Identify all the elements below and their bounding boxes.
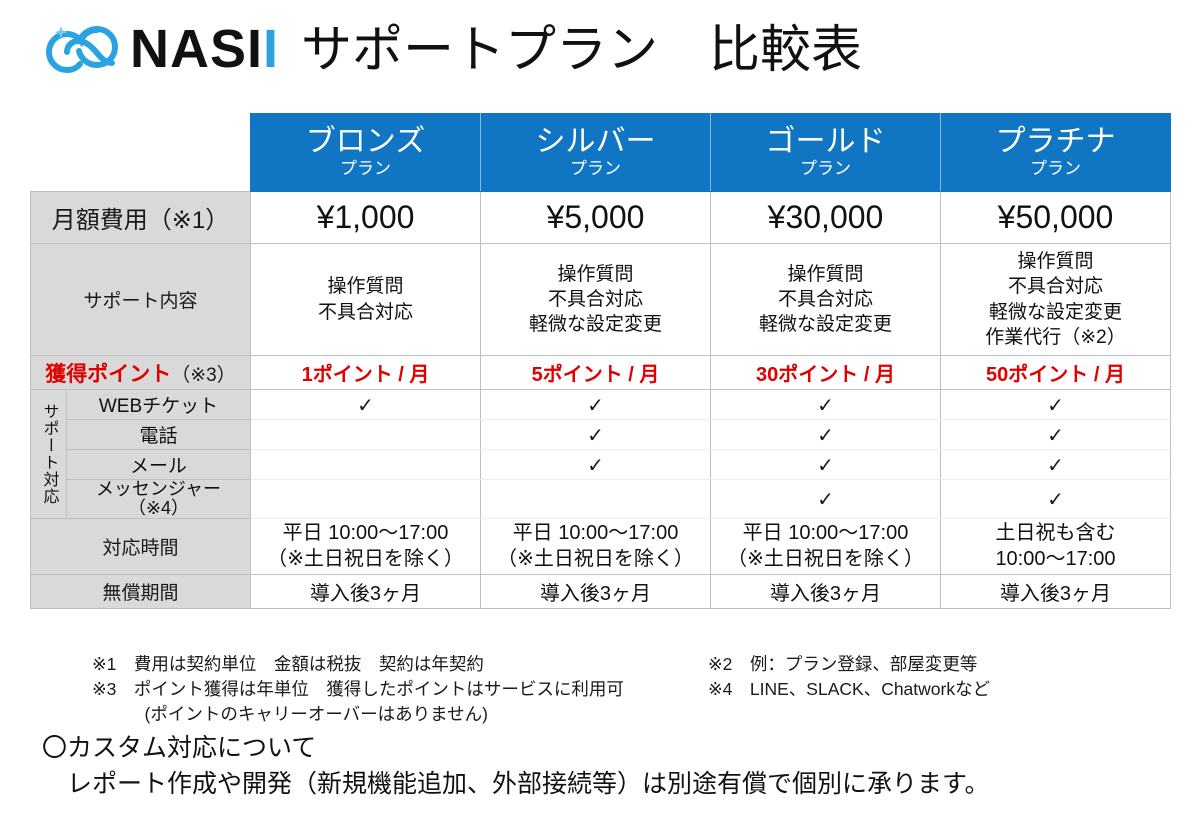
check-phone-bronze xyxy=(251,420,481,450)
support-content-bronze: 操作質問不具合対応 xyxy=(251,244,481,356)
check-mail-platinum: ✓ xyxy=(941,450,1171,480)
plan-name: プラチナ xyxy=(941,126,1170,158)
custom-support-note: 〇カスタム対応について レポート作成や開発（新規機能追加、外部接続等）は別途有償… xyxy=(42,730,990,803)
table-row-monthly-price: 月額費用（※1） ¥1,000 ¥5,000 ¥30,000 ¥50,000 xyxy=(31,192,1171,244)
method-label-mail: メール xyxy=(67,450,251,480)
check-messenger-bronze xyxy=(251,480,481,519)
footnotes-left: ※1 費用は契約単位 金額は税抜 契約は年契約※3 ポイント獲得は年単位 獲得し… xyxy=(92,652,624,727)
method-label-web-ticket: WEBチケット xyxy=(67,390,251,420)
pricing-comparison-page: NASII サポートプラン 比較表 ブロンズ プラン シルバー プラン ゴールド… xyxy=(0,0,1200,831)
plan-header-bronze: ブロンズ プラン xyxy=(251,114,481,192)
price-bronze: ¥1,000 xyxy=(251,192,481,244)
row-label-monthly-price: 月額費用（※1） xyxy=(31,192,251,244)
table-row-free-period: 無償期間 導入後3ヶ月 導入後3ヶ月 導入後3ヶ月 導入後3ヶ月 xyxy=(31,574,1171,608)
header-spacer xyxy=(31,114,251,192)
points-gold: 30ポイント / 月 xyxy=(711,356,941,390)
plan-header-platinum: プラチナ プラン xyxy=(941,114,1171,192)
plan-name: ブロンズ xyxy=(251,126,480,158)
check-web-ticket-silver: ✓ xyxy=(481,390,711,420)
check-mail-silver: ✓ xyxy=(481,450,711,480)
plan-subtitle: プラン xyxy=(711,159,940,179)
points-platinum: 50ポイント / 月 xyxy=(941,356,1171,390)
check-phone-silver: ✓ xyxy=(481,420,711,450)
brand-wordmark-main: NASI xyxy=(130,19,263,79)
free-period-gold: 導入後3ヶ月 xyxy=(711,574,941,608)
table-row-support-content: サポート内容 操作質問不具合対応 操作質問不具合対応軽微な設定変更 操作質問不具… xyxy=(31,244,1171,356)
check-messenger-gold: ✓ xyxy=(711,480,941,519)
page-header: NASII サポートプラン 比較表 xyxy=(40,18,862,80)
table-row-method-mail: メール ✓ ✓ ✓ xyxy=(31,450,1171,480)
table-row-method-messenger: メッセンジャー（※4） ✓ ✓ xyxy=(31,480,1171,519)
points-silver: 5ポイント / 月 xyxy=(481,356,711,390)
page-title: サポートプラン 比較表 xyxy=(301,24,862,75)
row-label-points-note: （※3） xyxy=(171,365,236,386)
hours-bronze: 平日 10:00〜17:00（※土日祝日を除く） xyxy=(251,518,481,574)
plan-name: ゴールド xyxy=(711,126,940,158)
table-row-method-phone: 電話 ✓ ✓ ✓ xyxy=(31,420,1171,450)
check-messenger-platinum: ✓ xyxy=(941,480,1171,519)
plan-comparison-table: ブロンズ プラン シルバー プラン ゴールド プラン プラチナ プラン 月額費用… xyxy=(30,113,1171,609)
check-mail-bronze xyxy=(251,450,481,480)
hours-platinum: 土日祝も含む10:00〜17:00 xyxy=(941,518,1171,574)
plan-subtitle: プラン xyxy=(941,159,1170,179)
plan-header-gold: ゴールド プラン xyxy=(711,114,941,192)
price-platinum: ¥50,000 xyxy=(941,192,1171,244)
price-gold: ¥30,000 xyxy=(711,192,941,244)
brand-wordmark: NASII xyxy=(130,22,279,76)
price-silver: ¥5,000 xyxy=(481,192,711,244)
check-web-ticket-platinum: ✓ xyxy=(941,390,1171,420)
check-web-ticket-bronze: ✓ xyxy=(251,390,481,420)
free-period-bronze: 導入後3ヶ月 xyxy=(251,574,481,608)
method-label-messenger: メッセンジャー（※4） xyxy=(67,480,251,519)
brand-wordmark-accent: I xyxy=(263,19,279,79)
check-mail-gold: ✓ xyxy=(711,450,941,480)
points-bronze: 1ポイント / 月 xyxy=(251,356,481,390)
support-content-platinum: 操作質問不具合対応軽微な設定変更作業代行（※2） xyxy=(941,244,1171,356)
row-label-points: 獲得ポイント（※3） xyxy=(31,356,251,390)
row-label-points-strong: 獲得ポイント xyxy=(45,363,171,386)
table-header-row: ブロンズ プラン シルバー プラン ゴールド プラン プラチナ プラン xyxy=(31,114,1171,192)
plan-subtitle: プラン xyxy=(251,159,480,179)
row-label-support-content: サポート内容 xyxy=(31,244,251,356)
check-phone-gold: ✓ xyxy=(711,420,941,450)
free-period-silver: 導入後3ヶ月 xyxy=(481,574,711,608)
plan-header-silver: シルバー プラン xyxy=(481,114,711,192)
row-label-free-period: 無償期間 xyxy=(31,574,251,608)
plan-subtitle: プラン xyxy=(481,159,710,179)
free-period-platinum: 導入後3ヶ月 xyxy=(941,574,1171,608)
check-web-ticket-gold: ✓ xyxy=(711,390,941,420)
row-group-label-support-methods: サポート対応 xyxy=(31,390,67,519)
support-content-gold: 操作質問不具合対応軽微な設定変更 xyxy=(711,244,941,356)
row-label-hours: 対応時間 xyxy=(31,518,251,574)
method-label-phone: 電話 xyxy=(67,420,251,450)
table-row-hours: 対応時間 平日 10:00〜17:00（※土日祝日を除く） 平日 10:00〜1… xyxy=(31,518,1171,574)
cloud-infinity-logo-icon xyxy=(40,18,126,80)
hours-gold: 平日 10:00〜17:00（※土日祝日を除く） xyxy=(711,518,941,574)
support-content-silver: 操作質問不具合対応軽微な設定変更 xyxy=(481,244,711,356)
plan-name: シルバー xyxy=(481,126,710,158)
table-row-method-web-ticket: サポート対応 WEBチケット ✓ ✓ ✓ ✓ xyxy=(31,390,1171,420)
check-messenger-silver xyxy=(481,480,711,519)
hours-silver: 平日 10:00〜17:00（※土日祝日を除く） xyxy=(481,518,711,574)
check-phone-platinum: ✓ xyxy=(941,420,1171,450)
table-row-points: 獲得ポイント（※3） 1ポイント / 月 5ポイント / 月 30ポイント / … xyxy=(31,356,1171,390)
footnotes-right: ※2 例：プラン登録、部屋変更等※4 LINE、SLACK、Chatworkなど xyxy=(708,652,990,702)
